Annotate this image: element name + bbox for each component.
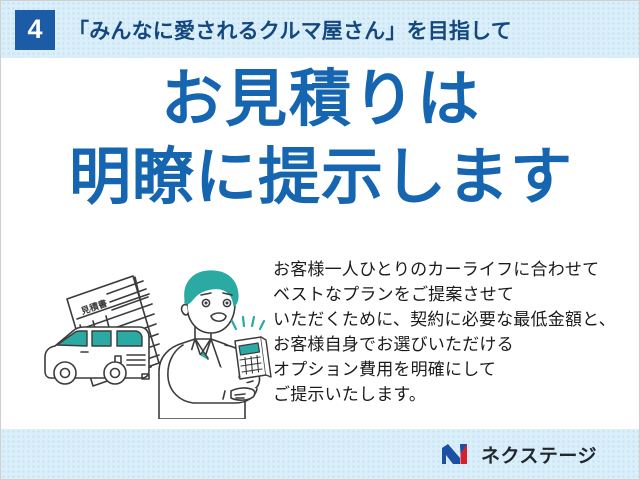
body-copy-line: お客様自身でお選びいただける — [273, 332, 633, 357]
brand-name: ネクステージ — [481, 441, 597, 468]
body-copy-line: いただくために、契約に必要な最低金額と、 — [273, 307, 633, 332]
calculator — [235, 337, 271, 379]
banner-footer: ネクステージ — [1, 429, 640, 479]
illustration: 見積書 — [35, 259, 275, 419]
promo-banner: 4 「みんなに愛されるクルマ屋さん」を目指して お見積りは 明瞭に提示します お… — [0, 0, 640, 480]
brand-logo: ネクステージ — [440, 441, 597, 468]
header-title: 「みんなに愛されるクルマ屋さん」を目指して — [68, 15, 512, 45]
headline-line-2: 明瞭に提示します — [1, 147, 640, 209]
van — [45, 327, 149, 384]
sparkle — [232, 317, 264, 329]
body-copy-line: ベストなプランをご提案させて — [273, 282, 633, 307]
body-copy-line: ご提示いたします。 — [273, 382, 633, 407]
banner-header: 4 「みんなに愛されるクルマ屋さん」を目指して — [1, 1, 640, 58]
step-number-badge: 4 — [15, 10, 55, 50]
body-copy-line: お客様一人ひとりのカーライフに合わせて — [273, 257, 633, 282]
salesman-illustration-svg: 見積書 — [35, 259, 275, 419]
nexstage-n-logo-icon — [440, 442, 474, 466]
body-copy: お客様一人ひとりのカーライフに合わせて ベストなプランをご提案させて いただくた… — [273, 257, 633, 407]
headline: お見積りは 明瞭に提示します — [1, 69, 640, 209]
headline-line-1: お見積りは — [1, 69, 640, 131]
body-copy-line: オプション費用を明確にして — [273, 357, 633, 382]
